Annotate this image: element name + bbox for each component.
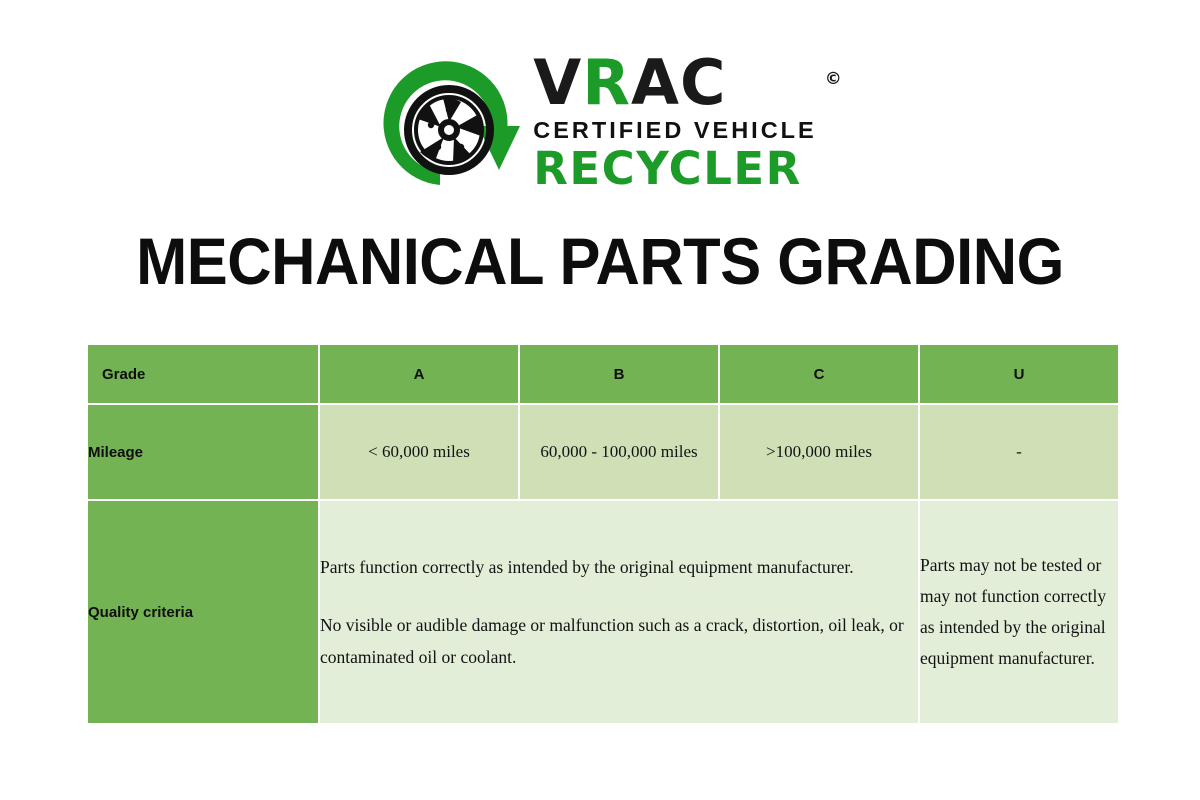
- quality-paragraph-1: Parts function correctly as intended by …: [320, 551, 918, 583]
- logo-inner: VRAC© CERTIFIED VEHICLE RECYCLER: [383, 48, 816, 198]
- logo-tagline: CERTIFIED VEHICLE: [533, 116, 816, 144]
- header-cell-b: B: [520, 345, 718, 403]
- cell-mileage-c: >100,000 miles: [720, 405, 918, 499]
- quality-paragraph-2: No visible or audible damage or malfunct…: [320, 609, 918, 673]
- row-label-mileage: Mileage: [88, 405, 318, 499]
- cell-mileage-b: 60,000 - 100,000 miles: [520, 405, 718, 499]
- page-title: MECHANICAL PARTS GRADING: [42, 222, 1158, 300]
- logo-brand-name: VRAC©: [533, 52, 816, 114]
- table-header-row: Grade A B C U: [88, 345, 1118, 403]
- cell-mileage-u: -: [920, 405, 1118, 499]
- grading-table: Grade A B C U Mileage < 60,000 miles 60,…: [86, 343, 1120, 725]
- table-row-mileage: Mileage < 60,000 miles 60,000 - 100,000 …: [88, 405, 1118, 499]
- cell-quality-u: Parts may not be tested or may not funct…: [920, 501, 1118, 723]
- copyright-icon: ©: [825, 48, 843, 110]
- header-cell-a: A: [320, 345, 518, 403]
- header-cell-grade: Grade: [88, 345, 318, 403]
- logo-letters-ac: AC: [631, 46, 726, 119]
- header-cell-c: C: [720, 345, 918, 403]
- table-row-quality-criteria: Quality criteria Parts function correctl…: [88, 501, 1118, 723]
- cell-mileage-a: < 60,000 miles: [320, 405, 518, 499]
- logo-letter-r: R: [582, 46, 631, 119]
- page-root: VRAC© CERTIFIED VEHICLE RECYCLER MECHANI…: [0, 0, 1200, 800]
- row-label-quality-criteria: Quality criteria: [88, 501, 318, 723]
- logo-wordmark: VRAC© CERTIFIED VEHICLE RECYCLER: [533, 48, 816, 193]
- header-cell-u: U: [920, 345, 1118, 403]
- vrac-logo: VRAC© CERTIFIED VEHICLE RECYCLER: [0, 48, 1200, 203]
- logo-subline: RECYCLER: [533, 145, 816, 193]
- logo-letter-v: V: [533, 46, 582, 119]
- recycling-wheel-icon: [383, 48, 523, 198]
- cell-quality-abc: Parts function correctly as intended by …: [320, 501, 918, 723]
